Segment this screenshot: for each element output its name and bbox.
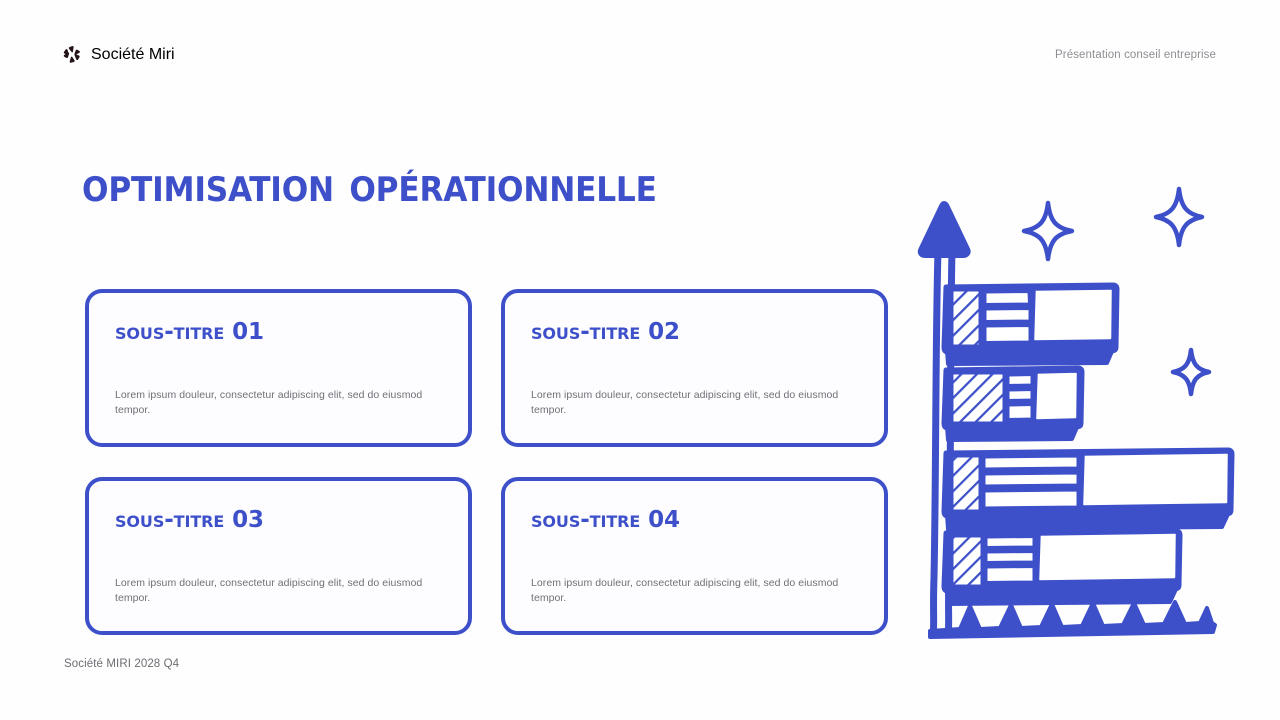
subtitle-card-grid: Sous-titre 01 Lorem ipsum douleur, conse… — [85, 289, 891, 637]
slide-canvas: Société Miri Présentation conseil entrep… — [0, 0, 1280, 720]
slide-header: Société Miri Présentation conseil entrep… — [0, 0, 1280, 96]
sparkle-icon-mid-right — [1173, 350, 1209, 394]
header-subtitle: Présentation conseil entreprise — [1055, 49, 1216, 61]
page-title: Optimisation opérationnelle — [82, 160, 657, 209]
card-body-text: Lorem ipsum douleur, consectetur adipisc… — [115, 576, 445, 606]
axis-shaft — [934, 251, 939, 629]
bar-1 — [944, 285, 1117, 364]
card-body-text: Lorem ipsum douleur, consectetur adipisc… — [531, 576, 861, 606]
bar-4 — [944, 531, 1180, 604]
card-sous-titre-01[interactable]: Sous-titre 01 Lorem ipsum douleur, conse… — [85, 289, 472, 447]
hand-drawn-growth-chart-illustration — [900, 185, 1245, 645]
card-body-text: Lorem ipsum douleur, consectetur adipisc… — [115, 388, 445, 418]
sparkle-icon-top-left — [1024, 203, 1072, 259]
bar-3 — [944, 450, 1232, 529]
card-title: Sous-titre 02 — [531, 321, 858, 344]
brand-lockup: Société Miri — [63, 45, 175, 64]
brand-name: Société Miri — [91, 46, 175, 64]
slide-footer: Société MIRI 2028 Q4 — [64, 658, 179, 670]
card-sous-titre-04[interactable]: Sous-titre 04 Lorem ipsum douleur, conse… — [501, 477, 888, 635]
spiked-baseline — [930, 602, 1215, 637]
sparkle-icon-top-right — [1156, 189, 1202, 245]
asterisk-burst-icon — [63, 45, 82, 64]
bar-2 — [944, 368, 1082, 440]
card-title: Sous-titre 04 — [531, 509, 858, 532]
card-sous-titre-03[interactable]: Sous-titre 03 Lorem ipsum douleur, conse… — [85, 477, 472, 635]
card-title: Sous-titre 03 — [115, 509, 442, 532]
card-title: Sous-titre 01 — [115, 321, 442, 344]
card-body-text: Lorem ipsum douleur, consectetur adipisc… — [531, 388, 861, 418]
card-sous-titre-02[interactable]: Sous-titre 02 Lorem ipsum douleur, conse… — [501, 289, 888, 447]
arrow-head — [920, 203, 969, 256]
